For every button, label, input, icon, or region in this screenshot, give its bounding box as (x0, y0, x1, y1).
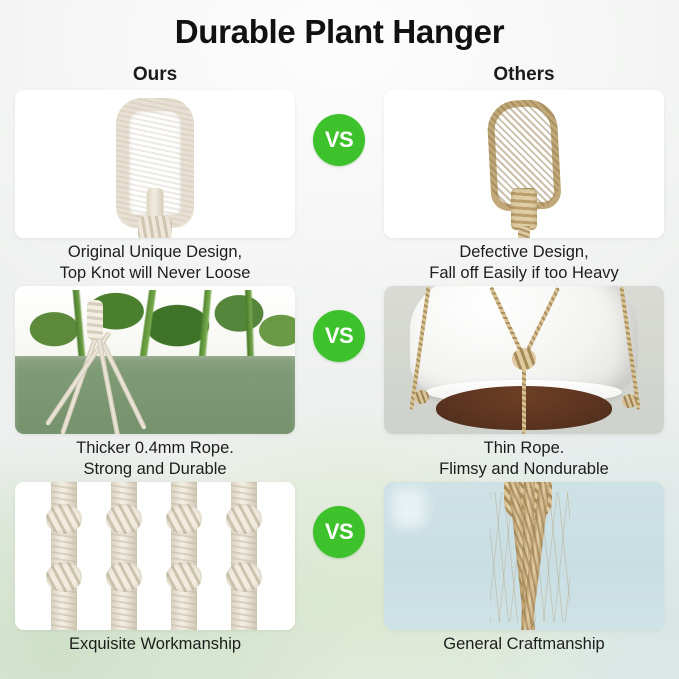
macrame-knotwork-image (15, 482, 295, 630)
ours-image-card-2 (15, 286, 295, 434)
green-pot-shape (15, 356, 295, 434)
white-ceramic-pot-image (384, 286, 664, 434)
knotted-cord-shape (111, 482, 137, 630)
knotted-cord-shape (231, 482, 257, 630)
ours-image-card-1 (15, 90, 295, 238)
ours-caption-2: Thicker 0.4mm Rope. Strong and Durable (15, 438, 295, 480)
knotted-cord-shape (51, 482, 77, 630)
vs-badge-3: VS (313, 506, 365, 558)
vs-badge-2: VS (313, 310, 365, 362)
frayed-jute-image (384, 482, 664, 630)
others-image-card-3 (384, 482, 664, 630)
ours-image-card-3 (15, 482, 295, 630)
jute-center-knot (512, 348, 536, 370)
others-caption-1: Defective Design, Fall off Easily if too… (384, 242, 664, 284)
knotted-cord-shape (171, 482, 197, 630)
others-caption-2: Thin Rope. Flimsy and Nondurable (384, 438, 664, 480)
green-planter-image (15, 286, 295, 434)
column-header-others: Others (444, 64, 604, 86)
page-title: Durable Plant Hanger (0, 13, 679, 51)
background-blur-shape (392, 488, 426, 528)
column-header-ours: Ours (75, 64, 235, 86)
ours-caption-1: Original Unique Design, Top Knot will Ne… (15, 242, 295, 284)
jute-side-knot-right (622, 394, 637, 408)
jute-twine-shape (522, 364, 526, 434)
infographic-root: Durable Plant Hanger Ours Others Origina… (0, 0, 679, 679)
vs-badge-1: VS (313, 114, 365, 166)
cotton-rope-loop-image (15, 90, 295, 238)
jute-coil-knot-shape (511, 188, 537, 230)
jute-tail-shape (518, 226, 530, 238)
others-image-card-1 (384, 90, 664, 238)
plant-stems-shape (15, 290, 295, 360)
others-image-card-2 (384, 286, 664, 434)
others-caption-3: General Craftmanship (384, 634, 664, 655)
ours-caption-3: Exquisite Workmanship (15, 634, 295, 655)
jute-rope-loop-image (384, 90, 664, 238)
rope-knot-shape (138, 216, 172, 238)
jute-side-knot-left (414, 390, 429, 404)
macrame-gathering-knot (87, 300, 103, 340)
